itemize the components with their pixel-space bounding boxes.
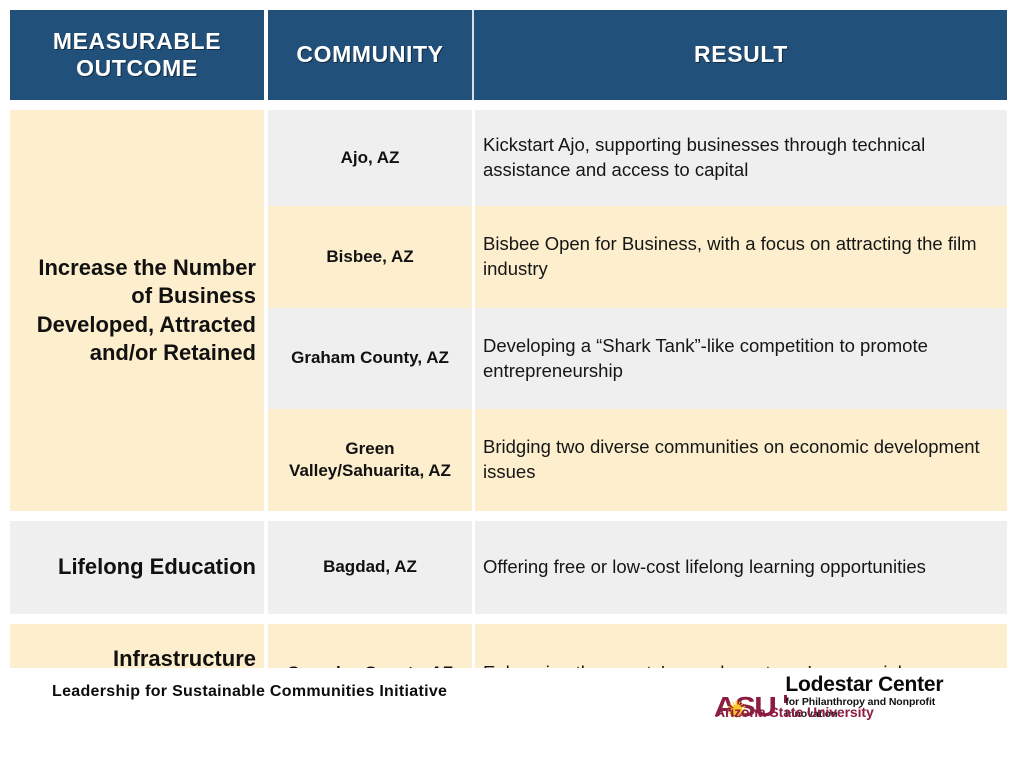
column-header-measurable-outcome: MEASURABLE OUTCOME xyxy=(10,10,264,100)
column-header-result: RESULT xyxy=(475,10,1007,100)
outcome-cell-lifelong-education: Lifelong Education xyxy=(10,521,264,614)
spacer-cell xyxy=(10,511,264,521)
lodestar-center-name: Lodestar Center xyxy=(785,674,974,695)
header-outcome-line1: MEASURABLE xyxy=(53,28,221,54)
header-outcome-line2: OUTCOME xyxy=(76,55,198,81)
community-cell: Bagdad, AZ xyxy=(268,521,472,614)
asu-lodestar-center-logo: ASU Lodestar Center for Philanthropy and… xyxy=(714,674,974,724)
result-cell: Bisbee Open for Business, with a focus o… xyxy=(475,206,1007,308)
measurable-outcomes-table: MEASURABLE OUTCOME COMMUNITY RESULT Inc xyxy=(10,10,1007,722)
table-row: Lifelong Education Bagdad, AZ Offering f… xyxy=(10,521,1007,614)
community-cell: Green Valley/Sahuarita, AZ xyxy=(268,409,472,511)
spacer-cell xyxy=(268,100,472,110)
community-cell: Bisbee, AZ xyxy=(268,206,472,308)
spacer-row-after-header xyxy=(10,100,1007,110)
slide-footer: Leadership for Sustainable Communities I… xyxy=(0,668,1024,768)
footer-initiative-title: Leadership for Sustainable Communities I… xyxy=(52,683,447,701)
result-cell: Offering free or low-cost lifelong learn… xyxy=(475,521,1007,614)
community-cell: Ajo, AZ xyxy=(268,110,472,206)
spacer-cell xyxy=(475,100,1007,110)
result-cell: Kickstart Ajo, supporting businesses thr… xyxy=(475,110,1007,206)
spacer-cell xyxy=(475,511,1007,521)
spacer-cell xyxy=(10,614,264,624)
table-row: Increase the Number of Business Develope… xyxy=(10,110,1007,206)
table-header: MEASURABLE OUTCOME COMMUNITY RESULT xyxy=(10,10,1007,100)
header-row: MEASURABLE OUTCOME COMMUNITY RESULT xyxy=(10,10,1007,100)
spacer-cell xyxy=(268,614,472,624)
spacer-row-group-1-2 xyxy=(10,511,1007,521)
arizona-state-university-text: Arizona State University xyxy=(715,705,874,720)
result-cell: Bridging two diverse communities on econ… xyxy=(475,409,1007,511)
spacer-cell xyxy=(475,614,1007,624)
spacer-row-group-2-3 xyxy=(10,614,1007,624)
outcome-cell-business: Increase the Number of Business Develope… xyxy=(10,110,264,511)
outcomes-table-container: MEASURABLE OUTCOME COMMUNITY RESULT Inc xyxy=(10,10,1007,722)
spacer-cell xyxy=(268,511,472,521)
community-cell: Graham County, AZ xyxy=(268,308,472,409)
table-body: Increase the Number of Business Develope… xyxy=(10,100,1007,722)
spacer-cell xyxy=(10,100,264,110)
column-header-community: COMMUNITY xyxy=(268,10,472,100)
result-cell: Developing a “Shark Tank”-like competiti… xyxy=(475,308,1007,409)
